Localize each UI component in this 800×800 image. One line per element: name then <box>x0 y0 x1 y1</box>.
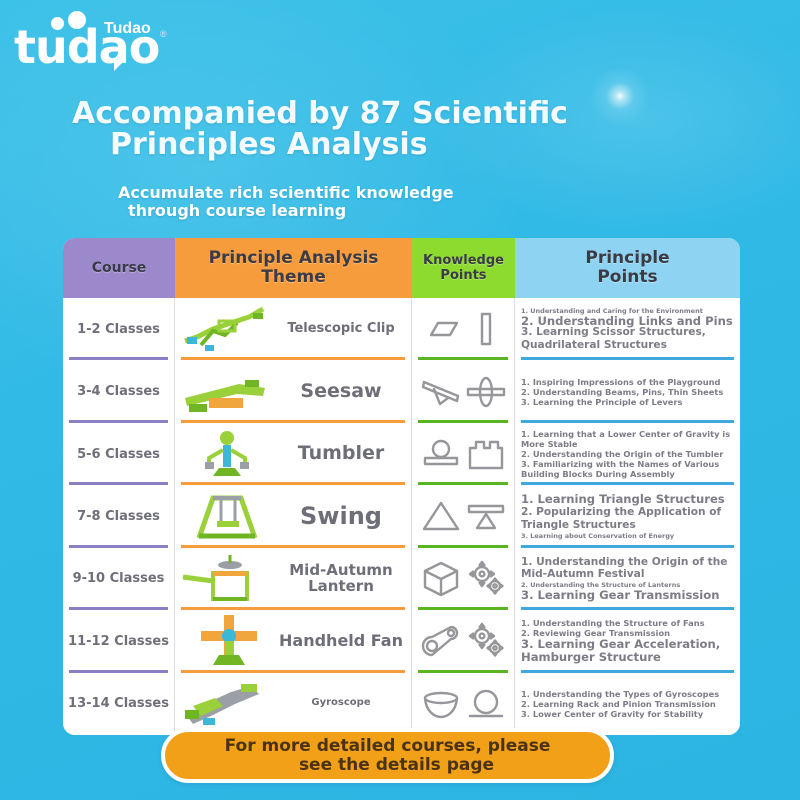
column-header-theme-line-1: Principle Analysis <box>209 248 379 268</box>
cell-course: 13-14 Classes <box>63 673 175 735</box>
cell-knowledge-points <box>412 610 515 672</box>
principle-points-list: 1. Learning Triangle Structures2. Popula… <box>521 493 736 541</box>
principle-points-list: 1. Learning that a Lower Center of Gravi… <box>521 429 736 479</box>
gears-icon <box>466 559 506 599</box>
cell-course: 7-8 Classes <box>63 485 175 547</box>
theme-label: Tumbler <box>275 444 407 464</box>
principle-point-item: 3. Learning Gear Transmission <box>521 589 736 603</box>
seesaw-model <box>179 364 275 420</box>
bowl-icon <box>421 684 461 724</box>
course-label: 9-10 Classes <box>73 571 165 586</box>
principle-points-list: 1. Understanding and Caring for the Envi… <box>521 307 736 352</box>
cell-knowledge-points <box>412 423 515 485</box>
cell-course: 11-12 Classes <box>63 610 175 672</box>
cell-knowledge-points <box>412 673 515 735</box>
principle-point-item: 1. Understanding the Structure of Fans <box>521 618 736 628</box>
table-row[interactable]: 7-8 Classes Swing1. Learning Triangle St… <box>63 485 740 547</box>
principle-points-list: 1. Understanding the Origin of the Mid-A… <box>521 556 736 603</box>
table-row[interactable]: 9-10 Classes Mid-Autumn Lantern1. Unders… <box>63 548 740 610</box>
cell-principle-analysis-theme: Handheld Fan <box>175 610 412 672</box>
theme-label: Mid-Autumn Lantern <box>275 563 407 595</box>
cell-principle-analysis-theme: Gyroscope <box>175 673 412 735</box>
column-header-principle-line-2: Points <box>597 267 657 287</box>
cell-course: 9-10 Classes <box>63 548 175 610</box>
principle-point-item: 1. Learning that a Lower Center of Gravi… <box>521 429 736 449</box>
belt-pulley-icon <box>421 621 461 661</box>
principle-point-item: 3. Lower Center of Gravity for Stability <box>521 709 736 719</box>
registered-mark-icon: ® <box>160 29 167 39</box>
column-header-theme-line-2: Theme <box>261 267 325 287</box>
page-subtitle-line-2: through course learning <box>118 202 638 220</box>
column-header-principle-line-1: Principle <box>585 248 669 268</box>
details-page-button[interactable]: For more detailed courses, please see th… <box>161 728 614 783</box>
table-row[interactable]: 11-12 Classes Handheld Fan1. Understandi… <box>63 610 740 672</box>
telescopic-clip-model <box>179 301 275 357</box>
page-subtitle-line-1: Accumulate rich scientific knowledge <box>118 183 454 202</box>
principle-points-list: 1. Understanding the Types of Gyroscopes… <box>521 689 736 719</box>
course-table: Course Principle Analysis Theme Knowledg… <box>63 238 740 735</box>
principle-point-item: 3. Learning Scissor Structures, Quadrila… <box>521 326 736 351</box>
course-label: 3-4 Classes <box>77 384 160 399</box>
principle-point-item: 3. Learning about Conservation of Energy <box>521 532 736 540</box>
principle-point-item: 2. Popularizing the Application of Trian… <box>521 506 736 531</box>
principle-points-list: 1. Inspiring Impressions of the Playgrou… <box>521 377 736 407</box>
cta-line-1: For more detailed courses, please <box>225 736 551 756</box>
page-title: Accompanied by 87 Scientific Principles … <box>72 98 692 160</box>
column-header-course: Course <box>63 238 175 298</box>
principle-point-item: 3. Learning Gear Acceleration, Hamburger… <box>521 638 736 665</box>
principle-points-list: 1. Understanding the Structure of Fans2.… <box>521 618 736 665</box>
brick-block-icon <box>466 434 506 474</box>
logo-brand-name: Tudao <box>104 21 151 37</box>
cell-principle-points: 1. Learning that a Lower Center of Gravi… <box>515 423 740 485</box>
theme-label: Gyroscope <box>275 698 407 709</box>
table-body: 1-2 Classes Telescopic Clip1. Understand… <box>63 298 740 735</box>
cell-principle-analysis-theme: Mid-Autumn Lantern <box>175 548 412 610</box>
principle-point-item: 3. Familiarizing with the Names of Vario… <box>521 459 736 479</box>
ball-on-base-icon <box>421 434 461 474</box>
column-header-course-label: Course <box>92 260 147 276</box>
lever-icon <box>421 372 461 412</box>
tumbler-model <box>179 426 275 482</box>
cell-principle-points: 1. Understanding the Structure of Fans2.… <box>515 610 740 672</box>
table-row[interactable]: 13-14 Classes Gyroscope1. Understanding … <box>63 673 740 735</box>
column-header-knowledge-points: Knowledge Points <box>412 238 515 298</box>
cell-principle-points: 1. Understanding and Caring for the Envi… <box>515 298 740 360</box>
principle-point-item: 3. Learning the Principle of Levers <box>521 397 736 407</box>
column-header-knowledge-line-2: Points <box>440 268 486 283</box>
column-header-knowledge-line-1: Knowledge <box>423 253 504 268</box>
cell-course: 5-6 Classes <box>63 423 175 485</box>
spinning-top-icon <box>466 684 506 724</box>
cell-knowledge-points <box>412 485 515 547</box>
cell-course: 3-4 Classes <box>63 360 175 422</box>
principle-point-item: 2. Understanding Beams, Pins, Thin Sheet… <box>521 387 736 397</box>
course-label: 11-12 Classes <box>68 634 169 649</box>
theme-label: Swing <box>275 504 407 529</box>
column-header-principle-points: Principle Points <box>515 238 740 298</box>
tudao-logo: tudao Tudao ® <box>8 8 198 74</box>
principle-point-item: 1. Understanding the Types of Gyroscopes <box>521 689 736 699</box>
cell-principle-points: 1. Inspiring Impressions of the Playgrou… <box>515 360 740 422</box>
cube-icon <box>421 559 461 599</box>
course-label: 1-2 Classes <box>77 322 160 337</box>
column-header-principle-analysis-theme: Principle Analysis Theme <box>175 238 412 298</box>
gears-icon <box>466 621 506 661</box>
triangle-icon <box>421 496 461 536</box>
cell-knowledge-points <box>412 548 515 610</box>
page-title-line-1: Accompanied by 87 Scientific <box>72 96 568 131</box>
parallelogram-icon <box>421 309 461 349</box>
balance-beam-icon <box>466 496 506 536</box>
theme-label: Handheld Fan <box>275 633 407 650</box>
mid-autumn-lantern-model <box>179 551 275 607</box>
course-label: 7-8 Classes <box>77 509 160 524</box>
cell-principle-analysis-theme: Swing <box>175 485 412 547</box>
page-title-line-2: Principles Analysis <box>72 129 692 160</box>
cell-knowledge-points <box>412 360 515 422</box>
table-row[interactable]: 3-4 Classes Seesaw1. Inspiring Impressio… <box>63 360 740 422</box>
cell-knowledge-points <box>412 298 515 360</box>
thin-sheet-icon <box>466 309 506 349</box>
cell-principle-points: 1. Learning Triangle Structures2. Popula… <box>515 485 740 547</box>
poster-root: tudao Tudao ® Accompanied by 87 Scientif… <box>0 0 800 800</box>
cell-course: 1-2 Classes <box>63 298 175 360</box>
theme-label: Telescopic Clip <box>275 322 407 336</box>
cell-principle-points: 1. Understanding the Origin of the Mid-A… <box>515 548 740 610</box>
gyroscope-model <box>179 676 275 732</box>
cell-principle-analysis-theme: Telescopic Clip <box>175 298 412 360</box>
page-subtitle: Accumulate rich scientific knowledge thr… <box>118 184 638 220</box>
cell-principle-analysis-theme: Tumbler <box>175 423 412 485</box>
theme-label: Seesaw <box>275 382 407 402</box>
cell-principle-analysis-theme: Seesaw <box>175 360 412 422</box>
table-row[interactable]: 5-6 Classes Tumbler1. Learning that a Lo… <box>63 423 740 485</box>
principle-point-item: 2. Learning Rack and Pinion Transmission <box>521 699 736 709</box>
principle-point-item: 2. Understanding the Origin of the Tumbl… <box>521 449 736 459</box>
principle-point-item: 1. Inspiring Impressions of the Playgrou… <box>521 377 736 387</box>
cell-principle-points: 1. Understanding the Types of Gyroscopes… <box>515 673 740 735</box>
course-label: 13-14 Classes <box>68 696 169 711</box>
course-label: 5-6 Classes <box>77 447 160 462</box>
principle-point-item: 1. Understanding the Origin of the Mid-A… <box>521 556 736 581</box>
cta-line-2: see the details page <box>225 756 551 775</box>
table-row[interactable]: 1-2 Classes Telescopic Clip1. Understand… <box>63 298 740 360</box>
table-header-row: Course Principle Analysis Theme Knowledg… <box>63 238 740 298</box>
handheld-fan-model <box>179 613 275 669</box>
principle-point-item: 1. Learning Triangle Structures <box>521 493 736 507</box>
axle-wheel-icon <box>466 372 506 412</box>
swing-model <box>179 488 275 544</box>
